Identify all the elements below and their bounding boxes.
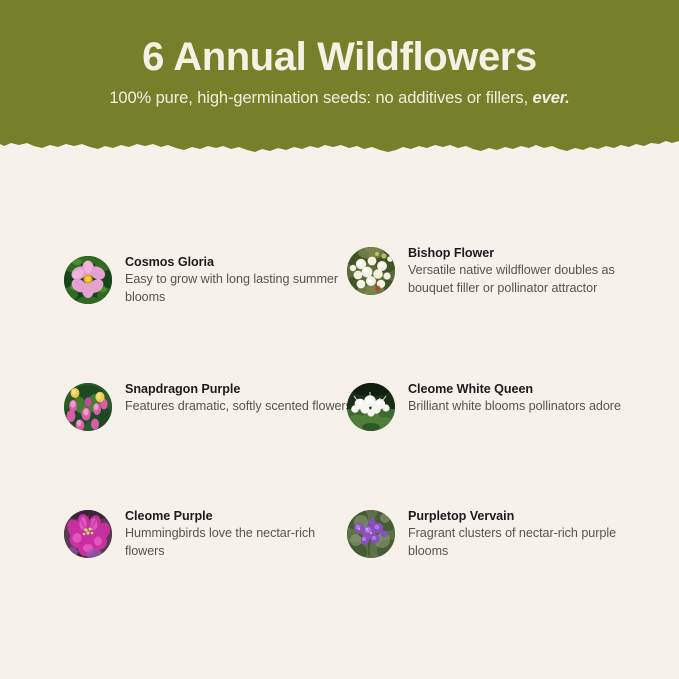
item-description: Fragrant clusters of nectar-rich purple … [408,525,640,560]
subtitle-main-text: 100% pure, high-germination seeds: no ad… [109,89,528,107]
item-name: Purpletop Vervain [408,508,640,525]
bishop-flower-thumbnail-icon [347,247,395,295]
snapdragon-purple-thumbnail-icon [64,383,112,431]
item-name: Cleome White Queen [408,381,640,398]
item-name: Cosmos Gloria [125,254,357,271]
item-text-block: Cosmos Gloria Easy to grow with long las… [125,254,357,306]
cleome-purple-thumbnail-icon [64,510,112,558]
page-subtitle: 100% pure, high-germination seeds: no ad… [0,87,679,109]
page-title: 6 Annual Wildflowers [0,33,679,81]
header-text-block: 6 Annual Wildflowers 100% pure, high-ger… [0,0,679,135]
item-text-block: Cleome Purple Hummingbirds love the nect… [125,508,357,560]
item-name: Bishop Flower [408,245,640,262]
item-description: Versatile native wildflower doubles as b… [408,262,640,297]
item-description: Features dramatic, softly scented flower… [125,398,357,416]
header-banner: 6 Annual Wildflowers 100% pure, high-ger… [0,0,679,158]
item-name: Cleome Purple [125,508,357,525]
product-feature-page: 6 Annual Wildflowers 100% pure, high-ger… [0,0,679,679]
item-name: Snapdragon Purple [125,381,357,398]
cleome-white-queen-thumbnail-icon [347,383,395,431]
item-description: Easy to grow with long lasting summer bl… [125,271,357,306]
item-text-block: Snapdragon Purple Features dramatic, sof… [125,381,357,416]
item-text-block: Cleome White Queen Brilliant white bloom… [408,381,640,416]
purpletop-vervain-thumbnail-icon [347,510,395,558]
subtitle-emphasis-text: ever. [533,89,570,107]
cosmos-gloria-thumbnail-icon [64,256,112,304]
item-text-block: Purpletop Vervain Fragrant clusters of n… [408,508,640,560]
item-description: Brilliant white blooms pollinators adore [408,398,640,416]
item-description: Hummingbirds love the nectar-rich flower… [125,525,357,560]
item-text-block: Bishop Flower Versatile native wildflowe… [408,245,640,297]
wildflower-list: Cosmos Gloria Easy to grow with long las… [0,238,679,638]
